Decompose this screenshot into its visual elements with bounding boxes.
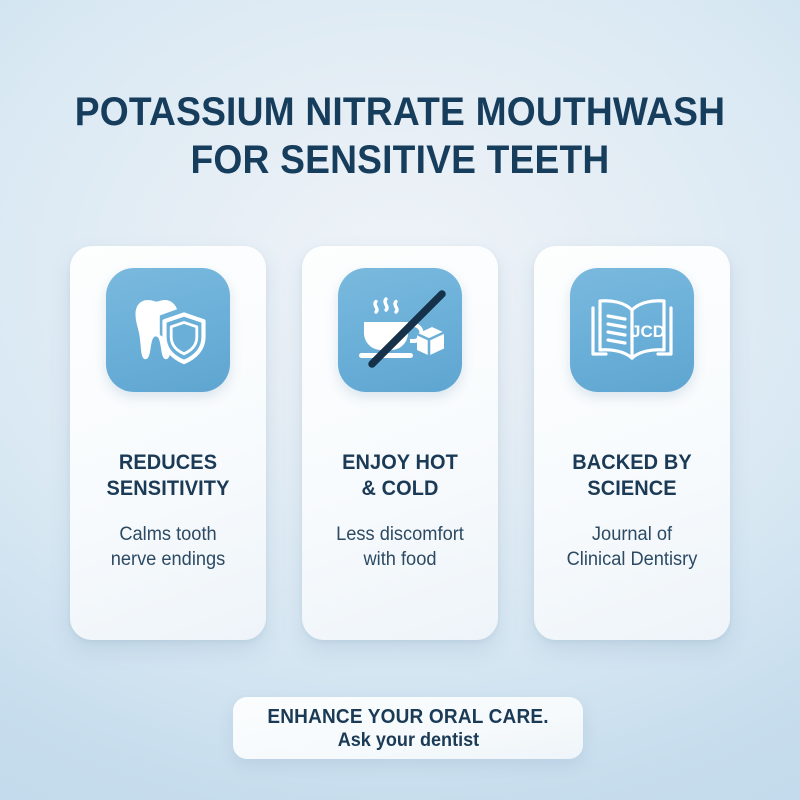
benefit-card-reduces-sensitivity[interactable]: REDUCES SENSITIVITY Calms tooth nerve en…	[70, 246, 266, 640]
card-body-1: Calms tooth nerve endings	[74, 522, 262, 572]
icon-tile-3: JCD	[570, 268, 694, 392]
card-heading-3-line-1: BACKED BY	[539, 450, 725, 476]
page-title: POTASSIUM NITRATE MOUTHWASH FOR SENSITIV…	[0, 88, 800, 184]
journal-abbrev-label: JCD	[631, 322, 665, 341]
icon-tile-2	[338, 268, 462, 392]
card-body-1-line-2: nerve endings	[74, 547, 262, 572]
card-heading-1: REDUCES SENSITIVITY	[75, 450, 261, 502]
card-body-2-line-2: with food	[306, 547, 494, 572]
page-title-line-2: FOR SENSITIVE TEETH	[28, 136, 772, 184]
card-body-3: Journal of Clinical Dentisry	[538, 522, 726, 572]
card-body-3-line-2: Clinical Dentisry	[538, 547, 726, 572]
card-heading-3: BACKED BY SCIENCE	[539, 450, 725, 502]
page-title-line-1: POTASSIUM NITRATE MOUTHWASH	[28, 88, 772, 136]
benefit-card-enjoy-hot-cold[interactable]: ENJOY HOT & COLD Less discomfort with fo…	[302, 246, 498, 640]
card-heading-3-line-2: SCIENCE	[539, 476, 725, 502]
card-heading-2-line-2: & COLD	[307, 476, 493, 502]
icon-tile-1	[106, 268, 230, 392]
card-heading-2: ENJOY HOT & COLD	[307, 450, 493, 502]
open-book-journal-icon: JCD	[586, 288, 678, 372]
hot-cold-no-pain-icon	[354, 286, 446, 374]
card-heading-2-line-1: ENJOY HOT	[307, 450, 493, 476]
card-heading-1-line-1: REDUCES	[75, 450, 261, 476]
card-body-3-line-1: Journal of	[538, 522, 726, 547]
benefit-card-list: REDUCES SENSITIVITY Calms tooth nerve en…	[0, 246, 800, 642]
cta-subline: Ask your dentist	[337, 729, 478, 752]
infographic-poster: POTASSIUM NITRATE MOUTHWASH FOR SENSITIV…	[0, 0, 800, 800]
call-to-action-banner[interactable]: ENHANCE YOUR ORAL CARE. Ask your dentist	[233, 697, 583, 759]
tooth-shield-icon	[124, 286, 212, 374]
card-body-2: Less discomfort with food	[306, 522, 494, 572]
card-body-2-line-1: Less discomfort	[306, 522, 494, 547]
benefit-card-backed-by-science[interactable]: JCD BACKED BY SCIENCE Journal of Clinica…	[534, 246, 730, 640]
cta-headline: ENHANCE YOUR ORAL CARE.	[267, 705, 548, 729]
card-body-1-line-1: Calms tooth	[74, 522, 262, 547]
card-heading-1-line-2: SENSITIVITY	[75, 476, 261, 502]
